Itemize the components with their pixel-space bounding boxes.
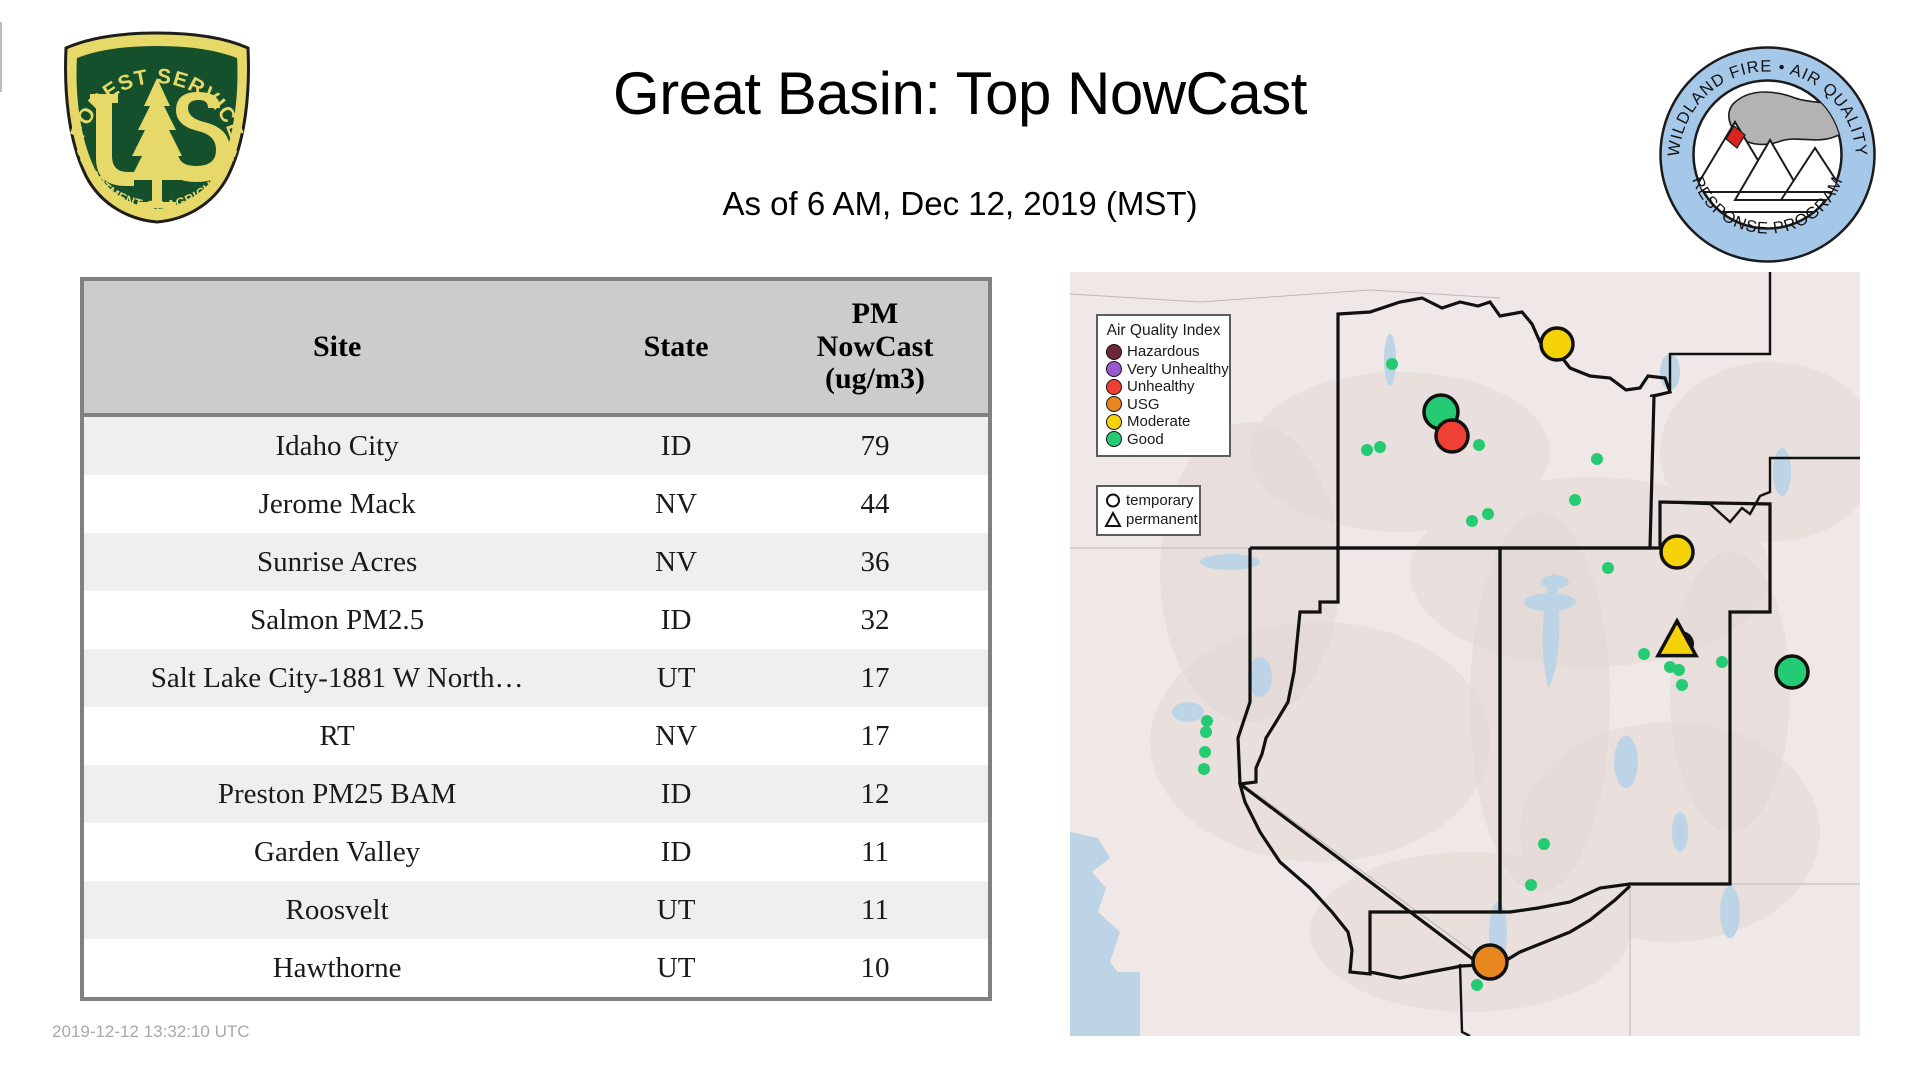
aqi-legend: Air Quality Index HazardousVery Unhealth… — [1096, 314, 1231, 457]
pm-cell: 17 — [762, 649, 988, 707]
small-site-marker[interactable] — [1591, 453, 1603, 465]
page-subtitle: As of 6 AM, Dec 12, 2019 (MST) — [0, 185, 1920, 223]
site-cell: Salmon PM2.5 — [84, 591, 590, 649]
state-cell: ID — [590, 415, 762, 475]
site-cell: Preston PM25 BAM — [84, 765, 590, 823]
site-cell: Idaho City — [84, 415, 590, 475]
small-site-marker[interactable] — [1673, 664, 1685, 676]
small-site-marker[interactable] — [1200, 726, 1212, 738]
table-header-row: Site State PM NowCast (ug/m3) — [84, 281, 988, 415]
table-row[interactable]: RoosveltUT11 — [84, 881, 988, 939]
small-site-marker[interactable] — [1482, 508, 1494, 520]
state-cell: ID — [590, 823, 762, 881]
pm-header-line2: NowCast — [766, 331, 984, 363]
pm-cell: 44 — [762, 475, 988, 533]
small-site-marker[interactable] — [1525, 879, 1537, 891]
aqi-color-swatch-icon — [1106, 431, 1122, 447]
aqi-legend-label: Unhealthy — [1127, 379, 1195, 394]
great-basin-map[interactable]: Air Quality Index HazardousVery Unhealth… — [1070, 272, 1860, 1036]
aqi-color-swatch-icon — [1106, 379, 1122, 395]
aqi-legend-label: Good — [1127, 432, 1164, 447]
table-row[interactable]: Preston PM25 BAMID12 — [84, 765, 988, 823]
aqi-legend-row: Very Unhealthy — [1106, 361, 1221, 379]
small-site-marker[interactable] — [1473, 439, 1485, 451]
small-site-marker[interactable] — [1538, 838, 1550, 850]
aqi-color-swatch-icon — [1106, 344, 1122, 360]
aqi-site-marker[interactable] — [1436, 420, 1468, 452]
small-site-marker[interactable] — [1361, 444, 1373, 456]
legend-label-temporary: temporary — [1126, 493, 1194, 508]
small-site-marker[interactable] — [1716, 656, 1728, 668]
aqi-site-marker[interactable] — [1473, 945, 1507, 979]
aqi-legend-row: Good — [1106, 431, 1221, 449]
site-cell: Garden Valley — [84, 823, 590, 881]
state-cell: NV — [590, 533, 762, 591]
pm-cell: 17 — [762, 707, 988, 765]
legend-label-permanent: permanent — [1126, 512, 1198, 527]
site-cell: RT — [84, 707, 590, 765]
small-site-marker[interactable] — [1676, 679, 1688, 691]
aqi-legend-label: Hazardous — [1127, 344, 1200, 359]
column-header-pm-nowcast[interactable]: PM NowCast (ug/m3) — [762, 281, 988, 415]
pm-cell: 12 — [762, 765, 988, 823]
top-nowcast-table: Site State PM NowCast (ug/m3) Idaho City… — [80, 277, 992, 1001]
triangle-outline-icon — [1104, 511, 1123, 528]
site-cell: Roosvelt — [84, 881, 590, 939]
aqi-legend-label: Very Unhealthy — [1127, 362, 1229, 377]
small-site-marker[interactable] — [1374, 441, 1386, 453]
state-cell: NV — [590, 707, 762, 765]
state-cell: ID — [590, 765, 762, 823]
page-title: Great Basin: Top NowCast — [0, 62, 1920, 125]
site-cell: Hawthorne — [84, 939, 590, 997]
site-cell: Sunrise Acres — [84, 533, 590, 591]
state-cell: UT — [590, 649, 762, 707]
table-row[interactable]: Idaho CityID79 — [84, 415, 988, 475]
small-site-marker[interactable] — [1201, 715, 1213, 727]
aqi-legend-label: Moderate — [1127, 414, 1190, 429]
legend-row-temporary: temporary — [1104, 491, 1193, 510]
table-row[interactable]: RTNV17 — [84, 707, 988, 765]
aqi-legend-row: Moderate — [1106, 413, 1221, 431]
pm-header-line1: PM — [766, 298, 984, 330]
column-header-state[interactable]: State — [590, 281, 762, 415]
state-cell: ID — [590, 591, 762, 649]
aqi-site-marker[interactable] — [1776, 656, 1808, 688]
pm-cell: 10 — [762, 939, 988, 997]
column-header-site[interactable]: Site — [84, 281, 590, 415]
pm-cell: 11 — [762, 881, 988, 939]
site-cell: Salt Lake City-1881 W North… — [84, 649, 590, 707]
table-row[interactable]: Jerome MackNV44 — [84, 475, 988, 533]
state-cell: UT — [590, 939, 762, 997]
pm-cell: 36 — [762, 533, 988, 591]
pm-cell: 11 — [762, 823, 988, 881]
small-site-marker[interactable] — [1386, 358, 1398, 370]
state-cell: NV — [590, 475, 762, 533]
table-row[interactable]: Sunrise AcresNV36 — [84, 533, 988, 591]
aqi-color-swatch-icon — [1106, 396, 1122, 412]
table-row[interactable]: Salmon PM2.5ID32 — [84, 591, 988, 649]
aqi-legend-title: Air Quality Index — [1106, 322, 1221, 340]
small-site-marker[interactable] — [1638, 648, 1650, 660]
table-row[interactable]: HawthorneUT10 — [84, 939, 988, 997]
pm-cell: 32 — [762, 591, 988, 649]
site-cell: Jerome Mack — [84, 475, 590, 533]
pm-header-line3: (ug/m3) — [766, 363, 984, 395]
small-site-marker[interactable] — [1199, 746, 1211, 758]
aqi-color-swatch-icon — [1106, 361, 1122, 377]
aqi-legend-label: USG — [1127, 397, 1160, 412]
generated-timestamp: 2019-12-12 13:32:10 UTC — [52, 1022, 250, 1042]
legend-row-permanent: permanent — [1104, 510, 1193, 529]
aqi-legend-row: Unhealthy — [1106, 378, 1221, 396]
small-site-marker[interactable] — [1198, 763, 1210, 775]
small-site-marker[interactable] — [1569, 494, 1581, 506]
site-type-legend: temporary permanent — [1096, 485, 1201, 536]
aqi-site-marker[interactable] — [1661, 536, 1693, 568]
circle-outline-icon — [1104, 492, 1123, 509]
aqi-color-swatch-icon — [1106, 414, 1122, 430]
small-site-marker[interactable] — [1471, 979, 1483, 991]
table-row[interactable]: Salt Lake City-1881 W North…UT17 — [84, 649, 988, 707]
small-site-marker[interactable] — [1466, 515, 1478, 527]
table-body: Idaho CityID79Jerome MackNV44Sunrise Acr… — [84, 415, 988, 997]
aqi-legend-row: USG — [1106, 396, 1221, 414]
small-site-marker[interactable] — [1602, 562, 1614, 574]
aqi-site-marker[interactable] — [1541, 328, 1573, 360]
pm-cell: 79 — [762, 415, 988, 475]
aqi-legend-row: Hazardous — [1106, 343, 1221, 361]
table-row[interactable]: Garden ValleyID11 — [84, 823, 988, 881]
state-cell: UT — [590, 881, 762, 939]
